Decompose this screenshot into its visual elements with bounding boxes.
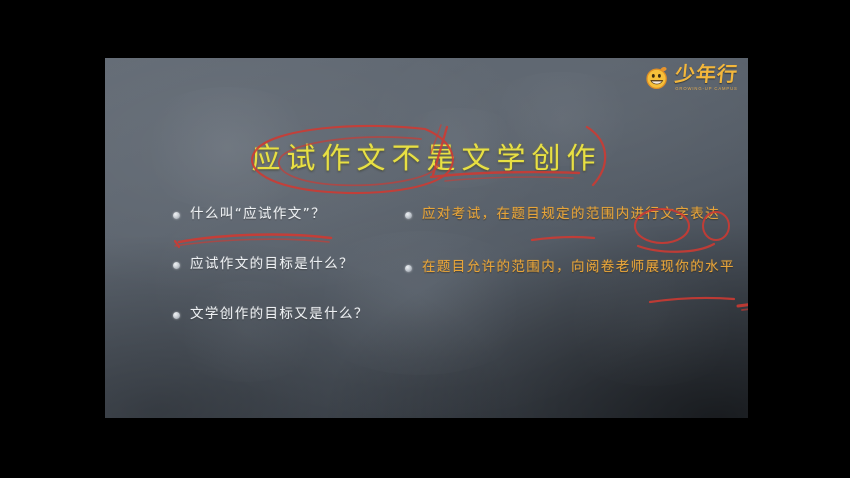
content-columns: 什么叫“应试作文”？ 应试作文的目标是什么？ 文学创作的目标又是什么？ 应对考试… (105, 206, 748, 356)
brand-name-en: GROWING-UP CAMPUS (675, 86, 737, 91)
list-item-label: 应试作文的目标是什么？ (190, 256, 354, 273)
video-frame: 少年行 GROWING-UP CAMPUS 应试作文不是文学创作 (0, 0, 850, 478)
brand-name-cn: 少年行 (674, 64, 739, 84)
list-item[interactable]: 应试作文的目标是什么？ (173, 256, 405, 273)
bullet-icon (173, 312, 180, 319)
bullet-icon (405, 212, 412, 219)
bullet-icon (173, 262, 180, 269)
brand-wordmark: 少年行 GROWING-UP CAMPUS (675, 64, 738, 91)
slide-title-row: 应试作文不是文学创作 (105, 140, 748, 177)
bullet-icon (405, 265, 412, 272)
list-item-label: 文学创作的目标又是什么？ (190, 306, 369, 323)
slide-title: 应试作文不是文学创作 (241, 140, 611, 177)
list-item[interactable]: 应对考试，在题目规定的范围内进行文字表达 (405, 206, 748, 223)
right-answer-column: 应对考试，在题目规定的范围内进行文字表达 在题目允许的范围内，向阅卷老师展现你的… (405, 206, 748, 356)
bullet-icon (173, 212, 180, 219)
blackboard-slide: 少年行 GROWING-UP CAMPUS 应试作文不是文学创作 (105, 58, 748, 418)
smiley-face-icon (644, 64, 671, 91)
list-item-label: 在题目允许的范围内，向阅卷老师展现你的水平 (422, 259, 735, 276)
left-question-column: 什么叫“应试作文”？ 应试作文的目标是什么？ 文学创作的目标又是什么？ (105, 206, 405, 356)
list-item-label: 什么叫“应试作文”？ (190, 206, 326, 223)
brand-logo: 少年行 GROWING-UP CAMPUS (644, 64, 738, 91)
list-item-label: 应对考试，在题目规定的范围内进行文字表达 (422, 206, 720, 223)
list-item[interactable]: 文学创作的目标又是什么？ (173, 306, 405, 323)
list-item[interactable]: 什么叫“应试作文”？ (173, 206, 405, 223)
list-item[interactable]: 在题目允许的范围内，向阅卷老师展现你的水平 (405, 259, 748, 276)
